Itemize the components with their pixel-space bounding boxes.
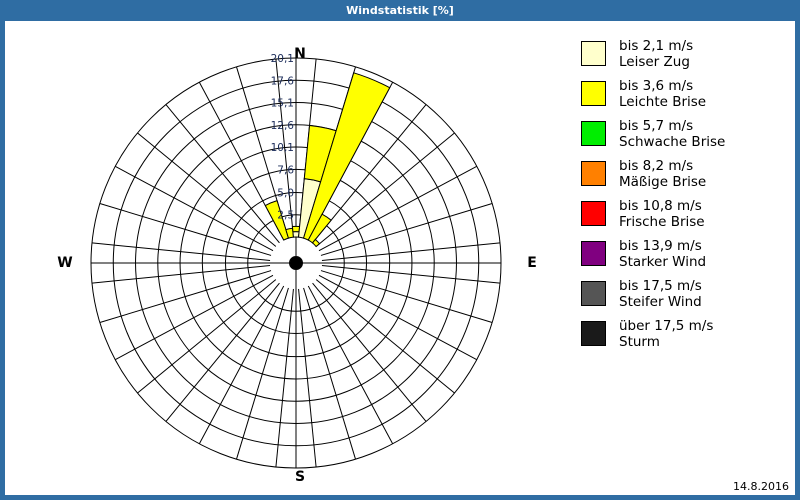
radial-tick-label: 10,1 [271, 142, 294, 154]
legend-color-swatch [581, 41, 606, 66]
legend-color-swatch [581, 321, 606, 346]
legend-item[interactable]: bis 3,6 m/sLeichte Brise [581, 79, 793, 110]
compass-label-west: W [51, 255, 79, 271]
window-titlebar: Windstatistik [%] [0, 0, 800, 20]
legend-color-swatch [581, 241, 606, 266]
legend-label-group: bis 10,8 m/sFrische Brise [619, 199, 705, 230]
legend-item[interactable]: bis 2,1 m/sLeiser Zug [581, 39, 793, 70]
legend-item[interactable]: bis 8,2 m/sMäßige Brise [581, 159, 793, 190]
legend-speed-label: bis 5,7 m/s [619, 119, 725, 135]
legend-label-group: bis 17,5 m/sSteifer Wind [619, 279, 702, 310]
radial-tick-label: 15,1 [271, 98, 294, 110]
legend-color-swatch [581, 81, 606, 106]
compass-label-south: S [286, 469, 314, 485]
center-marker [289, 256, 303, 270]
wind-rose-svg: 2,55,07,610,112,615,117,620,1 [5, 21, 565, 495]
legend-speed-label: bis 8,2 m/s [619, 159, 706, 175]
legend-name-label: Frische Brise [619, 215, 705, 231]
legend-label-group: bis 5,7 m/sSchwache Brise [619, 119, 725, 150]
legend-speed-label: bis 13,9 m/s [619, 239, 706, 255]
legend-item[interactable]: bis 17,5 m/sSteifer Wind [581, 279, 793, 310]
legend: bis 2,1 m/sLeiser Zugbis 3,6 m/sLeichte … [581, 39, 793, 359]
legend-name-label: Schwache Brise [619, 135, 725, 151]
legend-color-swatch [581, 121, 606, 146]
window-client-area: 2,55,07,610,112,615,117,620,1 N S W E bi… [4, 20, 796, 496]
date-stamp: 14.8.2016 [733, 480, 789, 493]
window-root: Windstatistik [%] 2,55,07,610,112,615,11… [0, 0, 800, 500]
legend-speed-label: bis 3,6 m/s [619, 79, 706, 95]
legend-label-group: bis 2,1 m/sLeiser Zug [619, 39, 693, 70]
legend-color-swatch [581, 201, 606, 226]
legend-name-label: Sturm [619, 335, 713, 351]
radial-tick-label: 2,5 [277, 210, 294, 222]
legend-color-swatch [581, 281, 606, 306]
wind-rose-petal-segment [292, 226, 299, 231]
legend-speed-label: bis 17,5 m/s [619, 279, 702, 295]
window-title: Windstatistik [%] [346, 4, 454, 17]
radial-tick-label: 5,0 [277, 187, 294, 199]
legend-speed-label: bis 10,8 m/s [619, 199, 705, 215]
wind-rose-chart: 2,55,07,610,112,615,117,620,1 N S W E [5, 21, 565, 495]
legend-item[interactable]: bis 13,9 m/sStarker Wind [581, 239, 793, 270]
legend-speed-label: bis 2,1 m/s [619, 39, 693, 55]
legend-label-group: bis 8,2 m/sMäßige Brise [619, 159, 706, 190]
legend-name-label: Leiser Zug [619, 55, 693, 71]
radial-tick-label: 12,6 [271, 120, 295, 132]
legend-item[interactable]: bis 5,7 m/sSchwache Brise [581, 119, 793, 150]
compass-label-east: E [518, 255, 546, 271]
legend-item[interactable]: bis 10,8 m/sFrische Brise [581, 199, 793, 230]
legend-speed-label: über 17,5 m/s [619, 319, 713, 335]
legend-name-label: Steifer Wind [619, 295, 702, 311]
legend-color-swatch [581, 161, 606, 186]
legend-name-label: Mäßige Brise [619, 175, 706, 191]
compass-label-north: N [286, 46, 314, 62]
radial-tick-label: 7,6 [277, 164, 294, 176]
legend-label-group: bis 13,9 m/sStarker Wind [619, 239, 706, 270]
legend-item[interactable]: über 17,5 m/sSturm [581, 319, 793, 350]
legend-name-label: Leichte Brise [619, 95, 706, 111]
legend-name-label: Starker Wind [619, 255, 706, 271]
legend-label-group: bis 3,6 m/sLeichte Brise [619, 79, 706, 110]
legend-label-group: über 17,5 m/sSturm [619, 319, 713, 350]
radial-tick-label: 17,6 [271, 75, 295, 87]
